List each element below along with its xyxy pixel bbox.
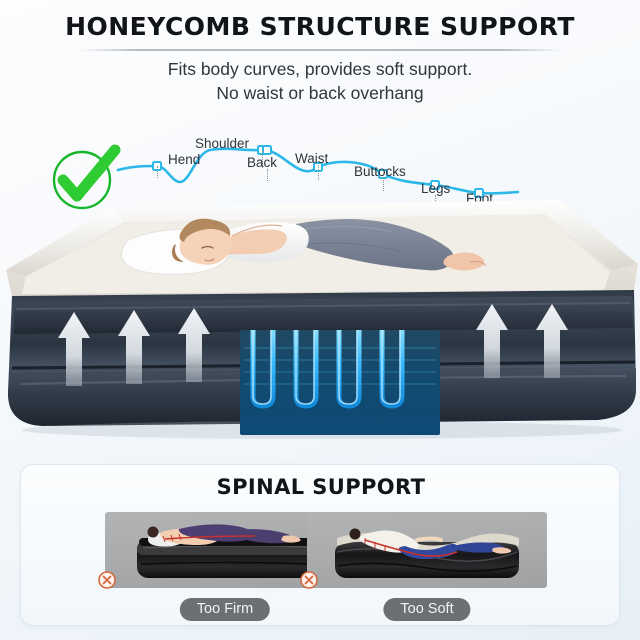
mattress-illustration <box>0 178 640 460</box>
x-circle-icon <box>299 570 319 590</box>
x-circle-icon <box>97 570 117 590</box>
subtitle-line-2: No waist or back overhang <box>0 82 640 106</box>
curve-label-hend: Hend <box>168 152 200 167</box>
curve-label-waist: Waist <box>295 151 328 166</box>
honeycomb-coil-window <box>240 326 440 435</box>
curve-label-back: Back <box>247 155 277 170</box>
title-divider <box>80 49 560 51</box>
too-firm-label: Too Firm <box>180 598 270 621</box>
spinal-support-title: SPINAL SUPPORT <box>21 475 621 499</box>
curve-label-buttocks: Buttocks <box>354 164 406 179</box>
spinal-support-panel: SPINAL SUPPORT <box>20 464 620 626</box>
subtitle-line-1: Fits body curves, provides soft support. <box>0 58 640 82</box>
curve-label-shoulder: Shoulder <box>195 136 249 151</box>
header: HONEYCOMB STRUCTURE SUPPORT Fits body cu… <box>0 14 640 106</box>
too-soft-illustration <box>307 512 547 588</box>
curve-tick-hend <box>157 166 158 178</box>
compare-card-too-soft[interactable]: Too Soft <box>307 512 547 588</box>
too-soft-label: Too Soft <box>383 598 470 621</box>
page-title: HONEYCOMB STRUCTURE SUPPORT <box>0 14 640 40</box>
